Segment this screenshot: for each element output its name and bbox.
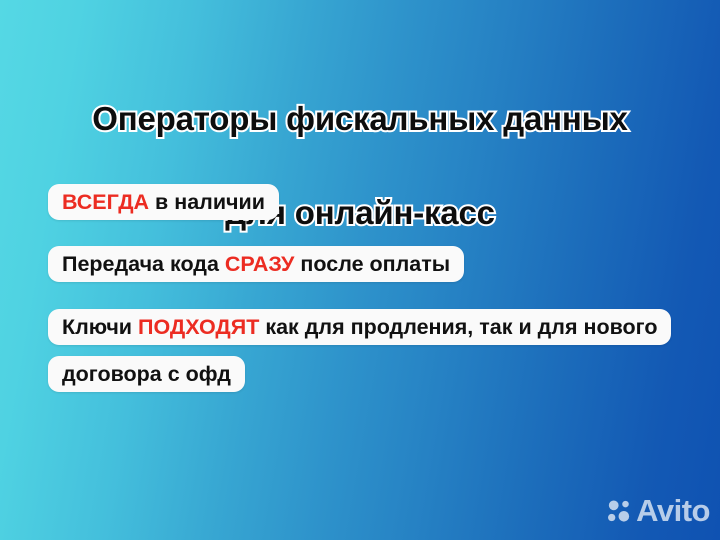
- feature-item-availability: ВСЕГДА в наличии: [48, 180, 310, 224]
- avito-dots-icon: [606, 498, 632, 524]
- ad-banner: Операторы фискальных данных для онлайн-к…: [0, 0, 720, 540]
- feature-item-keys-compatibility: Ключи ПОДХОДЯТ как для продления, так и …: [48, 304, 660, 398]
- feature-after-instant-delivery: после оплаты: [294, 252, 450, 276]
- avito-wordmark: Avito: [636, 495, 710, 526]
- feature-rest-availability: в наличии: [149, 190, 265, 214]
- feature-list: ВСЕГДА в наличии Передача кода СРАЗУ пос…: [48, 180, 672, 416]
- feature-text-availability: ВСЕГДА в наличии: [48, 184, 279, 220]
- feature-before-keys-compatibility: Ключи: [62, 315, 138, 339]
- feature-text-keys-compatibility: Ключи ПОДХОДЯТ как для продления, так и …: [48, 309, 671, 392]
- feature-highlight-keys-compatibility: ПОДХОДЯТ: [138, 315, 259, 339]
- avito-watermark: Avito: [606, 495, 710, 526]
- feature-before-instant-delivery: Передача кода: [62, 252, 225, 276]
- page-title-line-1: Операторы фискальных данных: [0, 95, 720, 142]
- feature-highlight-instant-delivery: СРАЗУ: [225, 252, 295, 276]
- feature-text-instant-delivery: Передача кода СРАЗУ после оплаты: [48, 246, 464, 282]
- feature-highlight-availability: ВСЕГДА: [62, 190, 149, 214]
- feature-item-instant-delivery: Передача кода СРАЗУ после оплаты: [48, 242, 548, 286]
